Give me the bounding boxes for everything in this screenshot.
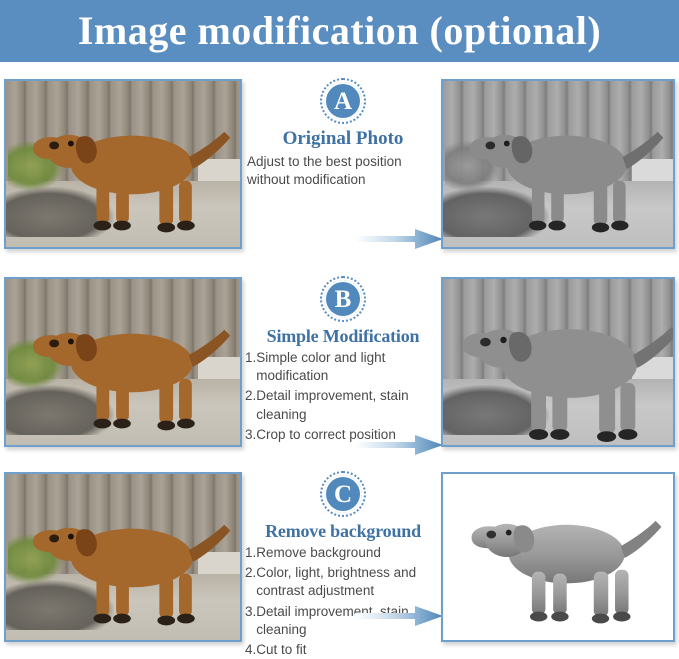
badge-letter: C: [334, 482, 352, 507]
original-photo-a: [4, 79, 242, 249]
badge-wrap-b: B: [245, 276, 441, 322]
badge-letter: B: [335, 287, 352, 312]
step-text: Remove background: [256, 544, 441, 562]
section-c-content: C Remove background 1. Remove background…: [245, 465, 441, 655]
step-text: Detail improvement, stain cleaning: [256, 387, 441, 423]
section-title-c: Remove background: [245, 521, 441, 542]
list-item: 1. Simple color and light modification: [245, 349, 441, 385]
header-banner: Image modification (optional): [0, 0, 679, 62]
step-badge-b: B: [320, 276, 366, 322]
photo-scene: [443, 81, 673, 247]
right-arrow-icon-b: [355, 434, 443, 456]
section-a-content: A Original Photo Adjust to the best posi…: [245, 72, 441, 262]
list-item: 4. Cut to fit: [245, 641, 441, 659]
step-text: Cut to fit: [256, 641, 441, 659]
dachshund-illustration: [6, 474, 240, 640]
section-description-a: Adjust to the best position without modi…: [245, 153, 441, 189]
right-arrow-icon-c: [355, 605, 443, 627]
right-arrow-icon-a: [355, 228, 443, 250]
step-badge-c: C: [320, 471, 366, 517]
section-row-c: C Remove background 1. Remove background…: [0, 465, 679, 655]
list-item: 2. Detail improvement, stain cleaning: [245, 387, 441, 423]
section-title-b: Simple Modification: [245, 326, 441, 347]
section-b-steps: 1. Simple color and light modification 2…: [245, 349, 441, 444]
photo-scene: [6, 279, 240, 445]
dachshund-illustration: [6, 81, 240, 247]
step-number: 4.: [245, 641, 256, 659]
badge-wrap-c: C: [245, 471, 441, 517]
step-badge-a: A: [320, 78, 366, 124]
badge-disc: C: [324, 475, 362, 513]
result-photo-b: [441, 277, 675, 447]
dachshund-illustration: [6, 279, 240, 445]
dachshund-illustration-cutout: [443, 474, 673, 640]
section-c-steps: 1. Remove background 2. Color, light, br…: [245, 544, 441, 659]
badge-disc: A: [324, 82, 362, 120]
dachshund-illustration: [443, 81, 673, 247]
photo-scene: [6, 81, 240, 247]
step-number: 2.: [245, 564, 256, 600]
result-photo-c: [441, 472, 675, 642]
dachshund-illustration: [443, 279, 673, 445]
badge-disc: B: [324, 280, 362, 318]
badge-wrap-a: A: [245, 78, 441, 124]
result-photo-a: [441, 79, 675, 249]
step-number: 1.: [245, 544, 256, 562]
photo-scene: [6, 474, 240, 640]
section-title-a: Original Photo: [245, 128, 441, 150]
list-item: 1. Remove background: [245, 544, 441, 562]
page-title: Image modification (optional): [78, 11, 601, 51]
original-photo-c: [4, 472, 242, 642]
section-b-content: B Simple Modification 1. Simple color an…: [245, 270, 441, 460]
step-number: 3.: [245, 426, 256, 444]
step-number: 3.: [245, 603, 256, 639]
step-text: Color, light, brightness and contrast ad…: [256, 564, 441, 600]
section-row-a: A Original Photo Adjust to the best posi…: [0, 72, 679, 262]
step-number: 1.: [245, 349, 256, 385]
step-text: Simple color and light modification: [256, 349, 441, 385]
photo-scene: [443, 279, 673, 445]
original-photo-b: [4, 277, 242, 447]
badge-letter: A: [334, 89, 352, 114]
photo-scene-cutout: [443, 474, 673, 640]
section-row-b: B Simple Modification 1. Simple color an…: [0, 270, 679, 460]
step-number: 2.: [245, 387, 256, 423]
list-item: 2. Color, light, brightness and contrast…: [245, 564, 441, 600]
